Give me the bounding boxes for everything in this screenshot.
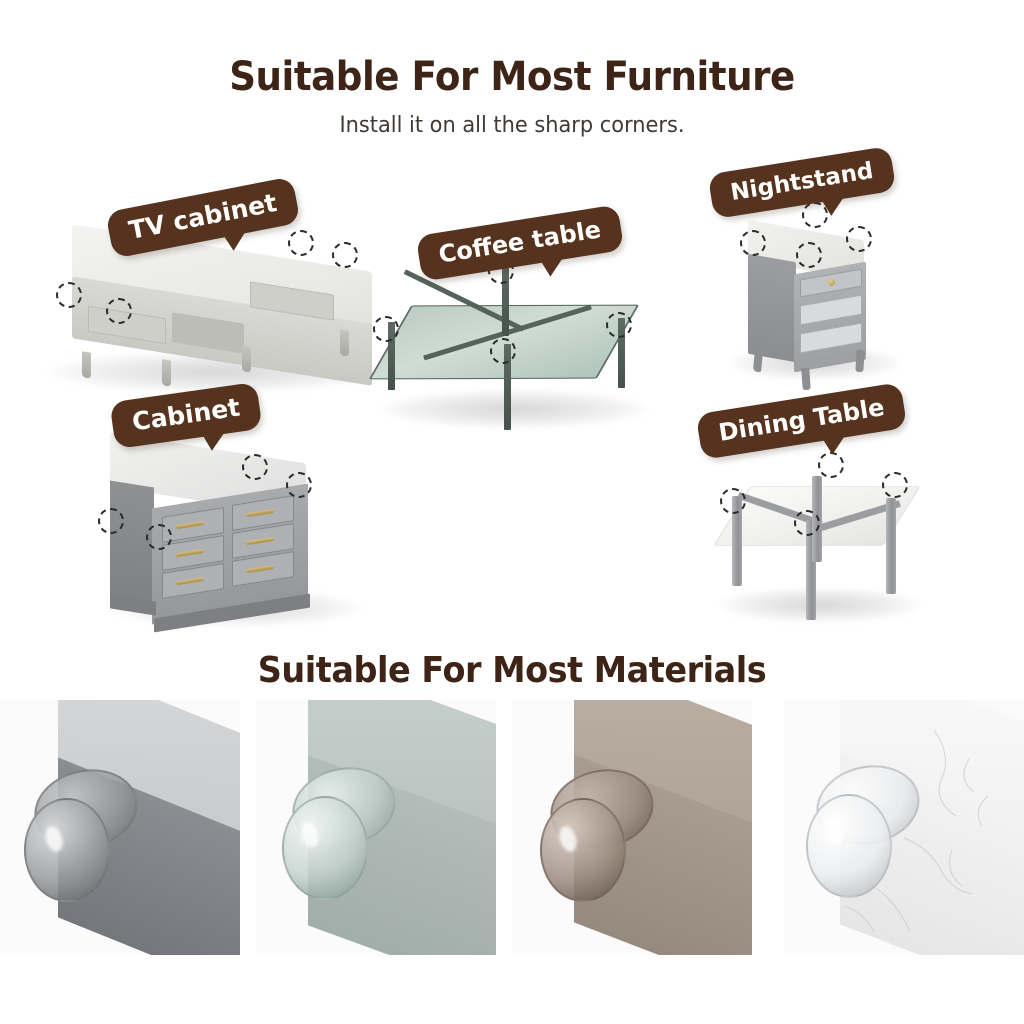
furniture-tv-cabinet: TV cabinet [10, 170, 410, 400]
badge-coffee-table: Coffee table [416, 204, 625, 282]
badge-label: Coffee table [437, 215, 603, 268]
furniture-nightstand: Nightstand [720, 178, 920, 398]
badge-label: TV cabinet [126, 188, 279, 245]
nightstand-leg [801, 368, 811, 391]
corner-marker [720, 488, 746, 514]
corner-marker [606, 312, 632, 338]
badge-label: Dining Table [717, 393, 887, 447]
coffee-table-shadow [382, 390, 647, 428]
furniture-dining-table: Dining Table [690, 410, 940, 640]
corner-marker [796, 242, 822, 268]
badge-label: Nightstand [729, 158, 875, 206]
furniture-coffee-table: Coffee table [368, 240, 668, 440]
material-cell-marble: Marble [784, 700, 1024, 955]
corner-marker [106, 298, 132, 324]
badge-label: Cabinet [130, 393, 241, 437]
corner-marker [740, 230, 766, 256]
corner-marker [794, 510, 820, 536]
nightstand-leg [753, 349, 763, 373]
corner-marker [373, 316, 399, 342]
nightstand-leg [855, 350, 865, 373]
corner-marker [56, 282, 82, 308]
material-cell-glass: Glass [256, 700, 496, 955]
dining-table-leg [886, 498, 896, 594]
material-cell-metal: Metal [0, 700, 240, 955]
page-title-materials: Suitable For Most Materials [36, 650, 988, 691]
tv-cabinet-leg [162, 359, 171, 386]
corner-marker [146, 524, 172, 550]
nightstand-side-panel [748, 254, 796, 362]
tv-cabinet-leg [82, 351, 91, 378]
page-title-furniture: Suitable For Most Furniture [36, 54, 988, 100]
badge-nightstand: Nightstand [708, 146, 897, 219]
corner-marker [288, 230, 314, 256]
cabinet-body [110, 448, 320, 628]
furniture-scene: TV cabinet Coffee table [0, 150, 1024, 645]
corner-marker [98, 508, 124, 534]
nightstand-knob [828, 279, 835, 286]
guard-ball [806, 794, 892, 898]
corner-marker [490, 338, 516, 364]
guard-ball [282, 796, 368, 900]
furniture-cabinet: Cabinet [90, 400, 370, 640]
corner-marker [846, 226, 872, 252]
guard-ball [24, 798, 110, 902]
tv-cabinet-leg [242, 345, 251, 372]
tv-cabinet-leg [340, 329, 349, 356]
corner-marker [882, 472, 908, 498]
material-cell-plastic: Plastic [512, 700, 752, 955]
corner-marker [332, 242, 358, 268]
guard-ball [540, 798, 626, 902]
corner-marker [242, 454, 268, 480]
materials-strip: Metal Glass Plastic [0, 700, 1024, 1024]
page-subtitle-furniture: Install it on all the sharp corners. [26, 113, 999, 138]
infographic-page: Suitable For Most Furniture Install it o… [0, 0, 1024, 1024]
corner-marker [286, 472, 312, 498]
